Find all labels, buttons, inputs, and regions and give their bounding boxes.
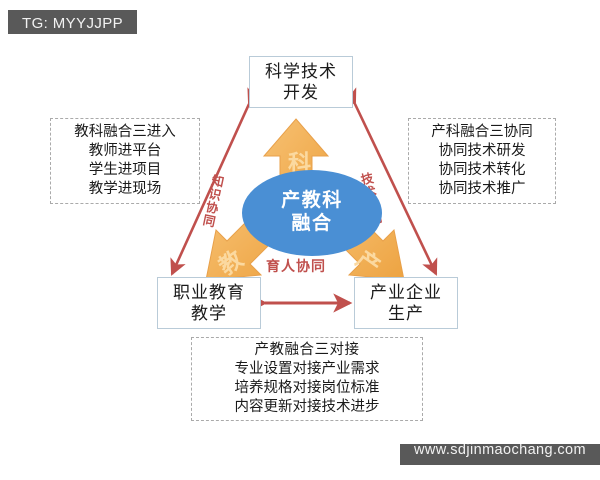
note-left-line1: 教科融合三进入 — [74, 123, 176, 142]
node-vocational-education-teaching[interactable]: 职业教育 教学 — [157, 277, 261, 329]
note-right-line3: 协同技术转化 — [439, 161, 526, 180]
note-right-line2: 协同技术研发 — [439, 142, 526, 161]
node-right-line1: 产业企业 — [370, 282, 442, 303]
triangle-diagram: 科学技术 开发 职业教育 教学 产业企业 生产 产教科 融合 科 教 产 知识协… — [0, 34, 600, 444]
node-right-line2: 生产 — [388, 303, 424, 324]
note-right-line4: 协同技术推广 — [439, 180, 526, 199]
node-left-line1: 职业教育 — [173, 282, 245, 303]
core-ellipse-industry-education-science-integration[interactable]: 产教科 融合 — [242, 170, 382, 256]
core-line1: 产教科 — [281, 190, 343, 213]
note-bottom-line3: 培养规格对接岗位标准 — [235, 379, 380, 398]
core-line2: 融合 — [291, 213, 332, 236]
note-bottom-line2: 专业设置对接产业需求 — [235, 360, 380, 379]
edge-label-talent-cultivation-synergy: 育人协同 — [266, 256, 326, 276]
node-top-line1: 科学技术 — [265, 61, 337, 82]
note-left-line3: 学生进项目 — [89, 161, 162, 180]
tg-watermark-text: TG: MYYJJPP — [22, 15, 123, 32]
node-left-line2: 教学 — [191, 303, 227, 324]
note-bottom-line1: 产教融合三对接 — [255, 341, 360, 360]
note-left-line4: 教学进现场 — [89, 180, 162, 199]
note-right-line1: 产科融合三协同 — [431, 123, 533, 142]
site-watermark-text: www.sdjinmaochang.com — [414, 442, 586, 458]
note-box-left: 教科融合三进入 教师进平台 学生进项目 教学进现场 — [50, 118, 200, 204]
note-box-right: 产科融合三协同 协同技术研发 协同技术转化 协同技术推广 — [408, 118, 556, 204]
note-left-line2: 教师进平台 — [89, 142, 162, 161]
note-box-bottom: 产教融合三对接 专业设置对接产业需求 培养规格对接岗位标准 内容更新对接技术进步 — [191, 337, 423, 421]
node-science-technology-development[interactable]: 科学技术 开发 — [249, 56, 353, 108]
node-industry-enterprise-production[interactable]: 产业企业 生产 — [354, 277, 458, 329]
tg-watermark-badge: TG: MYYJJPP — [8, 10, 137, 36]
node-top-line2: 开发 — [283, 82, 319, 103]
note-bottom-line4: 内容更新对接技术进步 — [235, 398, 380, 417]
